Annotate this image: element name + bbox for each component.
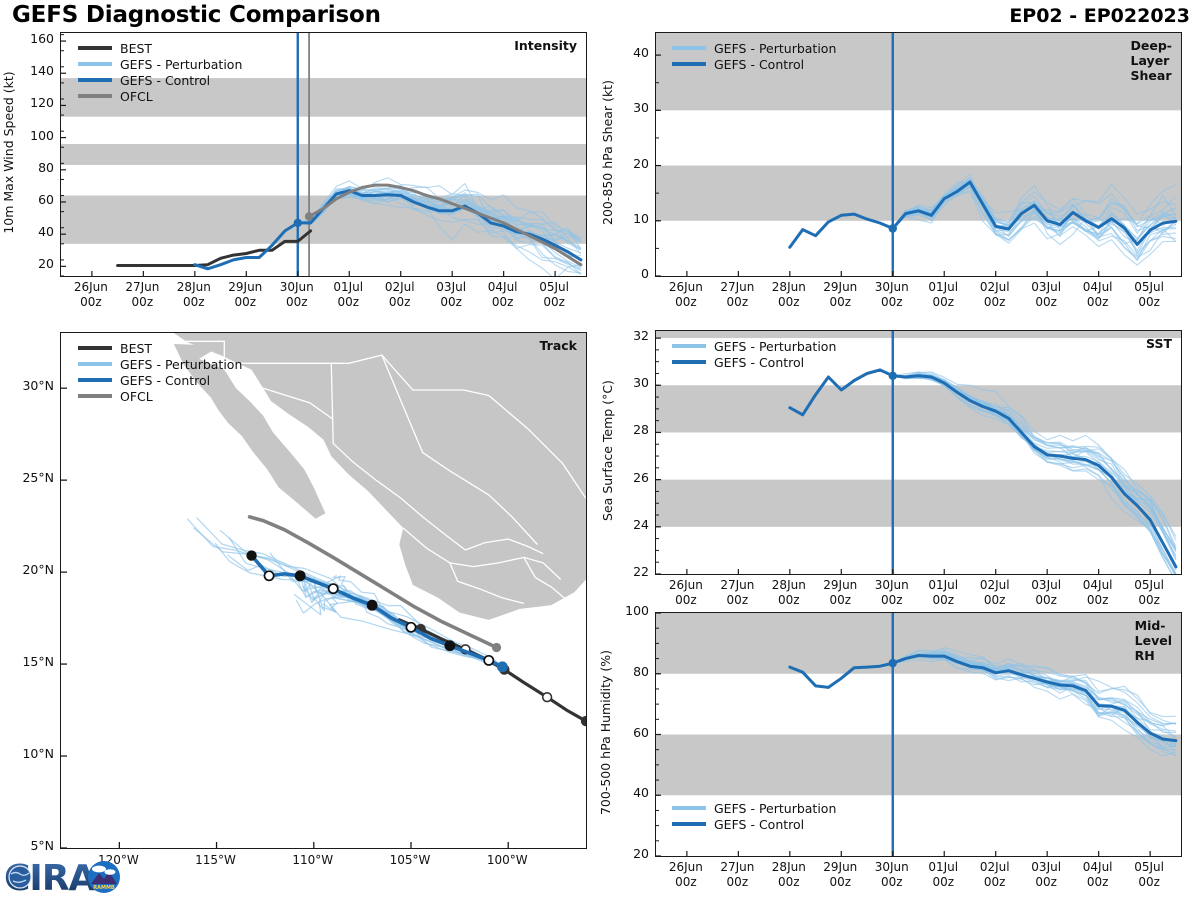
xtick-date: 27Jun	[720, 860, 754, 874]
ytick-intensity: 100	[14, 128, 54, 143]
legend-item[interactable]: OFCL	[78, 88, 242, 104]
ytick-shear: 0	[609, 266, 649, 281]
legend-label: OFCL	[120, 89, 153, 104]
legend-label: BEST	[120, 341, 152, 356]
xtick-hour: 00z	[829, 875, 851, 889]
page-title: GEFS Diagnostic Comparison	[12, 2, 381, 28]
xtick-date: 27Jun	[720, 578, 754, 592]
xtick-hour: 00z	[881, 875, 903, 889]
ylabel-shear: 200-850 hPa Shear (kt)	[600, 31, 615, 274]
legend-swatch	[672, 806, 706, 810]
track-canvas	[61, 333, 586, 848]
legend-rh: GEFS - PerturbationGEFS - Control	[672, 800, 836, 832]
xtick-hour: 00z	[183, 295, 205, 309]
legend-swatch	[78, 346, 112, 350]
ytick-sst: 22	[609, 564, 649, 579]
xtick-hour: 00z	[727, 875, 749, 889]
xtick-date: 03Jul	[436, 280, 466, 294]
ytick-intensity: 140	[14, 63, 54, 78]
legend-item[interactable]: GEFS - Perturbation	[672, 800, 836, 816]
xtick-hour: 00z	[234, 295, 256, 309]
ytick-rh: 40	[609, 785, 649, 800]
xtick-date: 29Jun	[228, 280, 262, 294]
ytick-rh: 20	[609, 846, 649, 861]
xtick-date: 29Jun	[823, 578, 857, 592]
xtick-hour: 00z	[492, 295, 514, 309]
legend-label: GEFS - Control	[120, 373, 210, 388]
ylabel-sst: Sea Surface Temp (°C)	[600, 329, 615, 572]
legend-swatch	[78, 94, 112, 98]
legend-swatch	[78, 46, 112, 50]
legend-item[interactable]: GEFS - Perturbation	[78, 356, 242, 372]
xtick-date: 30Jun	[875, 280, 909, 294]
legend-item[interactable]: GEFS - Perturbation	[78, 56, 242, 72]
ytick-sst: 32	[609, 328, 649, 343]
legend-swatch	[78, 78, 112, 82]
legend-swatch	[78, 394, 112, 398]
legend-label: GEFS - Control	[714, 57, 804, 72]
legend-item[interactable]: GEFS - Perturbation	[672, 40, 836, 56]
legend-swatch	[78, 362, 112, 366]
ytick-track: 5°N	[0, 838, 54, 853]
xtick-sst: 05Jul00z	[1115, 578, 1183, 608]
xtick-date: 27Jun	[720, 280, 754, 294]
xtick-hour: 00z	[1035, 295, 1057, 309]
xtick-date: 27Jun	[125, 280, 159, 294]
xtick-hour: 00z	[829, 593, 851, 607]
legend-item[interactable]: BEST	[78, 40, 242, 56]
xtick-date: 05Jul	[1134, 578, 1164, 592]
legend-track: BESTGEFS - PerturbationGEFS - ControlOFC…	[78, 340, 242, 404]
legend-swatch	[672, 62, 706, 66]
xtick-hour: 00z	[984, 875, 1006, 889]
xtick-hour: 00z	[881, 593, 903, 607]
xtick-hour: 00z	[1138, 295, 1160, 309]
panel-title-shear: Deep-Layer Shear	[1131, 38, 1172, 83]
ytick-intensity: 160	[14, 31, 54, 46]
xtick-track: 105°W	[370, 853, 450, 868]
xtick-date: 05Jul	[1134, 860, 1164, 874]
legend-item[interactable]: GEFS - Control	[78, 72, 242, 88]
xtick-date: 28Jun	[772, 860, 806, 874]
xtick-track: 100°W	[467, 853, 547, 868]
xtick-hour: 00z	[675, 295, 697, 309]
legend-swatch	[672, 46, 706, 50]
xtick-hour: 00z	[1035, 875, 1057, 889]
xtick-hour: 00z	[829, 295, 851, 309]
storm-id: EP02 - EP022023	[1009, 5, 1190, 27]
xtick-date: 04Jul	[1083, 280, 1113, 294]
ytick-shear: 40	[609, 45, 649, 60]
xtick-date: 29Jun	[823, 280, 857, 294]
ytick-intensity: 20	[14, 256, 54, 271]
svg-text:RAMMB: RAMMB	[93, 885, 115, 891]
xtick-date: 01Jul	[928, 860, 958, 874]
cira-logo-icon: CIRARAMMB	[4, 852, 122, 898]
xtick-date: 28Jun	[772, 280, 806, 294]
xtick-date: 26Jun	[74, 280, 108, 294]
xtick-date: 02Jul	[980, 860, 1010, 874]
xtick-date: 01Jul	[928, 280, 958, 294]
legend-item[interactable]: GEFS - Control	[672, 56, 836, 72]
legend-label: GEFS - Perturbation	[714, 801, 836, 816]
xtick-hour: 00z	[132, 295, 154, 309]
legend-item[interactable]: OFCL	[78, 388, 242, 404]
legend-label: BEST	[120, 41, 152, 56]
xtick-date: 28Jun	[177, 280, 211, 294]
xtick-hour: 00z	[984, 593, 1006, 607]
legend-item[interactable]: GEFS - Perturbation	[672, 338, 836, 354]
xtick-date: 04Jul	[1083, 860, 1113, 874]
legend-sst: GEFS - PerturbationGEFS - Control	[672, 338, 836, 370]
xtick-hour: 00z	[932, 295, 954, 309]
xtick-date: 02Jul	[980, 280, 1010, 294]
legend-label: GEFS - Control	[714, 817, 804, 832]
xtick-date: 30Jun	[280, 280, 314, 294]
xtick-hour: 00z	[727, 593, 749, 607]
ytick-track: 30°N	[0, 378, 54, 393]
xtick-date: 05Jul	[539, 280, 569, 294]
xtick-hour: 00z	[1087, 875, 1109, 889]
legend-item[interactable]: BEST	[78, 340, 242, 356]
legend-swatch	[78, 378, 112, 382]
xtick-hour: 00z	[1138, 593, 1160, 607]
ytick-rh: 60	[609, 725, 649, 740]
xtick-hour: 00z	[286, 295, 308, 309]
xtick-hour: 00z	[440, 295, 462, 309]
xtick-date: 26Jun	[669, 280, 703, 294]
legend-swatch	[672, 822, 706, 826]
xtick-date: 26Jun	[669, 578, 703, 592]
xtick-date: 05Jul	[1134, 280, 1164, 294]
legend-swatch	[672, 344, 706, 348]
legend-label: GEFS - Control	[120, 73, 210, 88]
xtick-track: 115°W	[176, 853, 256, 868]
xtick-shear: 05Jul00z	[1115, 280, 1183, 310]
xtick-rh: 05Jul00z	[1115, 860, 1183, 890]
xtick-hour: 00z	[778, 875, 800, 889]
xtick-date: 04Jul	[1083, 578, 1113, 592]
xtick-date: 03Jul	[1031, 860, 1061, 874]
xtick-hour: 00z	[675, 593, 697, 607]
legend-label: GEFS - Perturbation	[120, 57, 242, 72]
legend-item[interactable]: GEFS - Control	[78, 372, 242, 388]
xtick-hour: 00z	[80, 295, 102, 309]
cira-logo: CIRARAMMB	[4, 852, 122, 898]
ytick-sst: 30	[609, 375, 649, 390]
xtick-hour: 00z	[1087, 593, 1109, 607]
ytick-track: 15°N	[0, 654, 54, 669]
xtick-date: 01Jul	[333, 280, 363, 294]
xtick-hour: 00z	[932, 875, 954, 889]
xtick-date: 03Jul	[1031, 280, 1061, 294]
ylabel-intensity: 10m Max Wind Speed (kt)	[1, 31, 16, 274]
ytick-sst: 24	[609, 517, 649, 532]
legend-label: GEFS - Perturbation	[120, 357, 242, 372]
legend-label: GEFS - Control	[714, 355, 804, 370]
ytick-sst: 26	[609, 470, 649, 485]
ytick-intensity: 120	[14, 95, 54, 110]
xtick-hour: 00z	[984, 295, 1006, 309]
ytick-intensity: 60	[14, 192, 54, 207]
xtick-date: 29Jun	[823, 860, 857, 874]
xtick-hour: 00z	[881, 295, 903, 309]
legend-item[interactable]: GEFS - Control	[672, 354, 836, 370]
legend-label: OFCL	[120, 389, 153, 404]
legend-item[interactable]: GEFS - Control	[672, 816, 836, 832]
legend-label: GEFS - Perturbation	[714, 41, 836, 56]
xtick-hour: 00z	[727, 295, 749, 309]
xtick-hour: 00z	[778, 593, 800, 607]
xtick-hour: 00z	[1087, 295, 1109, 309]
xtick-date: 30Jun	[875, 578, 909, 592]
legend-intensity: BESTGEFS - PerturbationGEFS - ControlOFC…	[78, 40, 242, 104]
ytick-track: 10°N	[0, 746, 54, 761]
panel-title-rh: Mid-Level RH	[1135, 618, 1172, 663]
xtick-date: 30Jun	[875, 860, 909, 874]
panel-title-intensity: Intensity	[514, 38, 577, 53]
legend-label: GEFS - Perturbation	[714, 339, 836, 354]
xtick-date: 04Jul	[488, 280, 518, 294]
xtick-intensity: 05Jul00z	[520, 280, 588, 310]
ytick-rh: 80	[609, 664, 649, 679]
ytick-shear: 10	[609, 211, 649, 226]
xtick-track: 110°W	[273, 853, 353, 868]
xtick-date: 03Jul	[1031, 578, 1061, 592]
xtick-hour: 00z	[1035, 593, 1057, 607]
ytick-intensity: 80	[14, 160, 54, 175]
xtick-date: 26Jun	[669, 860, 703, 874]
xtick-hour: 00z	[543, 295, 565, 309]
ytick-shear: 20	[609, 156, 649, 171]
xtick-hour: 00z	[337, 295, 359, 309]
plot-track	[60, 332, 587, 849]
legend-swatch	[78, 62, 112, 66]
ytick-track: 20°N	[0, 562, 54, 577]
ytick-rh: 100	[609, 603, 649, 618]
xtick-hour: 00z	[778, 295, 800, 309]
legend-shear: GEFS - PerturbationGEFS - Control	[672, 40, 836, 72]
xtick-hour: 00z	[1138, 875, 1160, 889]
xtick-date: 01Jul	[928, 578, 958, 592]
xtick-date: 28Jun	[772, 578, 806, 592]
xtick-date: 02Jul	[980, 578, 1010, 592]
panel-title-sst: SST	[1146, 336, 1172, 351]
xtick-hour: 00z	[389, 295, 411, 309]
ytick-intensity: 40	[14, 224, 54, 239]
xtick-hour: 00z	[932, 593, 954, 607]
ylabel-rh: 700-500 hPa Humidity (%)	[598, 611, 613, 854]
ytick-sst: 28	[609, 422, 649, 437]
ytick-track: 25°N	[0, 470, 54, 485]
xtick-date: 02Jul	[385, 280, 415, 294]
ytick-shear: 30	[609, 100, 649, 115]
panel-title-track: Track	[540, 338, 577, 353]
xtick-hour: 00z	[675, 875, 697, 889]
legend-swatch	[672, 360, 706, 364]
